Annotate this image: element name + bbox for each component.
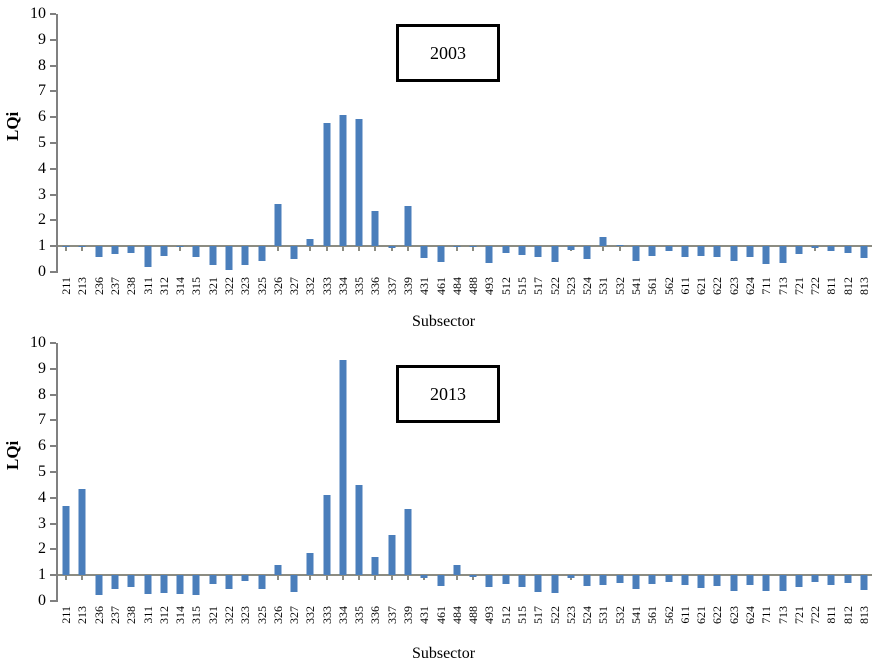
x-label-slot: 314 bbox=[172, 277, 188, 317]
x-label-slot: 332 bbox=[302, 277, 318, 317]
x-tick-label: 339 bbox=[402, 606, 414, 624]
x-tick-mark bbox=[374, 575, 376, 580]
x-tick-mark bbox=[342, 246, 344, 251]
x-tick-label: 323 bbox=[239, 277, 251, 295]
bar-slot bbox=[351, 343, 367, 601]
y-tick-label: 6 bbox=[38, 438, 46, 454]
bar bbox=[63, 246, 70, 247]
x-label-slot: 541 bbox=[628, 277, 644, 317]
bar bbox=[437, 575, 444, 586]
bar-slot bbox=[514, 343, 530, 601]
x-tick-label: 315 bbox=[190, 277, 202, 295]
x-tick-label: 531 bbox=[597, 606, 609, 624]
bar bbox=[535, 246, 542, 257]
x-label-slot: 713 bbox=[774, 606, 790, 646]
x-label-slot: 461 bbox=[432, 606, 448, 646]
x-tick-label: 623 bbox=[728, 606, 740, 624]
x-tick-mark bbox=[65, 246, 67, 251]
x-label-slot: 512 bbox=[498, 277, 514, 317]
bar-slot bbox=[58, 343, 74, 601]
x-label-slot: 326 bbox=[270, 277, 286, 317]
x-tick-mark bbox=[81, 575, 83, 580]
bar-slot bbox=[726, 343, 742, 601]
bar-slot bbox=[807, 14, 823, 272]
x-label-slot: 322 bbox=[221, 606, 237, 646]
bar bbox=[828, 575, 835, 584]
x-axis-tick-labels: 2112132362372383113123143153213223233253… bbox=[58, 277, 872, 317]
x-label-slot: 312 bbox=[156, 277, 172, 317]
x-label-slot: 321 bbox=[205, 606, 221, 646]
y-tick-mark bbox=[50, 142, 56, 144]
x-label-slot: 711 bbox=[758, 277, 774, 317]
x-tick-label: 321 bbox=[207, 277, 219, 295]
x-label-slot: 213 bbox=[74, 277, 90, 317]
bar bbox=[600, 237, 607, 246]
x-tick-label: 624 bbox=[744, 606, 756, 624]
x-tick-label: 532 bbox=[614, 606, 626, 624]
y-tick-mark bbox=[50, 394, 56, 396]
bar-slot bbox=[693, 343, 709, 601]
x-label-slot: 311 bbox=[139, 606, 155, 646]
bar bbox=[177, 246, 184, 247]
bar-slot bbox=[644, 14, 660, 272]
bar bbox=[128, 575, 135, 587]
bar bbox=[844, 246, 851, 253]
x-tick-label: 611 bbox=[679, 606, 691, 624]
y-tick-label: 2 bbox=[38, 212, 46, 228]
x-label-slot: 236 bbox=[91, 606, 107, 646]
y-tick-mark bbox=[50, 271, 56, 273]
bar bbox=[307, 553, 314, 576]
bar bbox=[323, 495, 330, 575]
x-tick-label: 611 bbox=[679, 277, 691, 295]
x-tick-label: 335 bbox=[353, 277, 365, 295]
x-label-slot: 541 bbox=[628, 606, 644, 646]
bar bbox=[95, 246, 102, 257]
x-tick-label: 711 bbox=[760, 606, 772, 624]
y-tick-mark bbox=[50, 13, 56, 15]
x-tick-mark bbox=[456, 246, 458, 251]
y-tick-label: 6 bbox=[38, 109, 46, 125]
bar-slot bbox=[139, 14, 155, 272]
bar bbox=[763, 246, 770, 264]
x-label-slot: 211 bbox=[58, 277, 74, 317]
x-label-slot: 532 bbox=[612, 606, 628, 646]
x-tick-label: 813 bbox=[858, 277, 870, 295]
bar bbox=[698, 575, 705, 588]
chart-panel-2013: LQi 012345678910 21121323623723831131231… bbox=[0, 329, 887, 657]
bar bbox=[160, 575, 167, 593]
bar-slot bbox=[367, 14, 383, 272]
bar-slot bbox=[677, 343, 693, 601]
x-tick-label: 722 bbox=[809, 277, 821, 295]
x-label-slot: 339 bbox=[400, 277, 416, 317]
y-tick-label: 7 bbox=[38, 83, 46, 99]
x-tick-label: 522 bbox=[549, 277, 561, 295]
x-label-slot: 623 bbox=[726, 606, 742, 646]
x-label-slot: 326 bbox=[270, 606, 286, 646]
x-tick-label: 532 bbox=[614, 277, 626, 295]
x-label-slot: 488 bbox=[465, 277, 481, 317]
bar bbox=[453, 565, 460, 575]
bar-slot bbox=[579, 343, 595, 601]
x-label-slot: 721 bbox=[791, 606, 807, 646]
x-label-slot: 531 bbox=[595, 606, 611, 646]
x-tick-label: 493 bbox=[483, 277, 495, 295]
x-label-slot: 431 bbox=[416, 606, 432, 646]
x-tick-label: 562 bbox=[663, 606, 675, 624]
bar bbox=[470, 246, 477, 247]
bar bbox=[502, 575, 509, 584]
bar-slot bbox=[856, 343, 872, 601]
bar-slot bbox=[302, 343, 318, 601]
y-tick-label: 0 bbox=[38, 593, 46, 609]
x-label-slot: 327 bbox=[286, 606, 302, 646]
x-axis-tick-labels: 2112132362372383113123143153213223233253… bbox=[58, 606, 872, 646]
x-label-slot: 493 bbox=[481, 606, 497, 646]
y-tick-mark bbox=[50, 342, 56, 344]
x-tick-label: 211 bbox=[60, 606, 72, 624]
x-label-slot: 488 bbox=[465, 606, 481, 646]
x-label-slot: 431 bbox=[416, 277, 432, 317]
bar-slot bbox=[612, 343, 628, 601]
bar bbox=[225, 246, 232, 270]
bar bbox=[763, 575, 770, 590]
bar-slot bbox=[58, 14, 74, 272]
x-tick-label: 517 bbox=[532, 277, 544, 295]
bar bbox=[111, 246, 118, 254]
x-label-slot: 484 bbox=[449, 277, 465, 317]
y-axis-tick-labels: 012345678910 bbox=[22, 343, 48, 601]
x-label-slot: 211 bbox=[58, 606, 74, 646]
bar bbox=[812, 575, 819, 582]
bar-slot bbox=[791, 343, 807, 601]
x-label-slot: 611 bbox=[677, 606, 693, 646]
x-label-slot: 812 bbox=[840, 606, 856, 646]
bar-slot bbox=[286, 343, 302, 601]
x-tick-label: 515 bbox=[516, 606, 528, 624]
x-label-slot: 621 bbox=[693, 277, 709, 317]
x-tick-label: 812 bbox=[842, 277, 854, 295]
x-label-slot: 461 bbox=[432, 277, 448, 317]
bar bbox=[258, 575, 265, 589]
x-label-slot: 811 bbox=[823, 606, 839, 646]
bar bbox=[372, 211, 379, 246]
bar-slot bbox=[172, 343, 188, 601]
y-tick-mark bbox=[50, 497, 56, 499]
bar-slot bbox=[807, 343, 823, 601]
x-tick-label: 517 bbox=[532, 606, 544, 624]
x-tick-label: 621 bbox=[695, 606, 707, 624]
x-tick-mark bbox=[65, 575, 67, 580]
bar-slot bbox=[644, 343, 660, 601]
x-label-slot: 321 bbox=[205, 277, 221, 317]
x-tick-label: 624 bbox=[744, 277, 756, 295]
legend-year-box: 2003 bbox=[396, 24, 500, 82]
bar-slot bbox=[628, 14, 644, 272]
bar-slot bbox=[709, 343, 725, 601]
x-tick-label: 523 bbox=[565, 277, 577, 295]
bar-slot bbox=[563, 14, 579, 272]
bar bbox=[111, 575, 118, 588]
y-tick-label: 2 bbox=[38, 541, 46, 557]
bar bbox=[860, 246, 867, 258]
x-tick-label: 327 bbox=[288, 277, 300, 295]
bar bbox=[453, 246, 460, 247]
x-label-slot: 523 bbox=[563, 277, 579, 317]
bar bbox=[698, 246, 705, 256]
bar bbox=[63, 506, 70, 576]
x-tick-mark bbox=[358, 575, 360, 580]
x-tick-label: 312 bbox=[158, 606, 170, 624]
x-tick-mark bbox=[277, 246, 279, 251]
bar-slot bbox=[123, 343, 139, 601]
bar-slot bbox=[677, 14, 693, 272]
x-tick-label: 622 bbox=[711, 606, 723, 624]
x-label-slot: 311 bbox=[139, 277, 155, 317]
x-label-slot: 335 bbox=[351, 606, 367, 646]
bar bbox=[714, 246, 721, 257]
x-label-slot: 335 bbox=[351, 277, 367, 317]
x-tick-label: 515 bbox=[516, 277, 528, 295]
x-label-slot: 722 bbox=[807, 277, 823, 317]
bar-slot bbox=[156, 343, 172, 601]
bar-slot bbox=[91, 14, 107, 272]
legend-year-box: 2013 bbox=[396, 365, 500, 423]
bar-slot bbox=[107, 343, 123, 601]
bar-slot bbox=[660, 343, 676, 601]
bar bbox=[714, 575, 721, 586]
bar bbox=[128, 246, 135, 253]
x-label-slot: 315 bbox=[188, 277, 204, 317]
bar bbox=[193, 246, 200, 257]
bar-slot bbox=[237, 343, 253, 601]
x-tick-label: 721 bbox=[793, 606, 805, 624]
bar-slot bbox=[514, 14, 530, 272]
x-label-slot: 336 bbox=[367, 277, 383, 317]
bar-slot bbox=[546, 343, 562, 601]
bar bbox=[502, 246, 509, 253]
bar-slot bbox=[530, 343, 546, 601]
bar-slot bbox=[774, 14, 790, 272]
x-label-slot: 522 bbox=[546, 277, 562, 317]
bar-slot bbox=[237, 14, 253, 272]
bar-slot bbox=[546, 14, 562, 272]
bar bbox=[681, 575, 688, 585]
x-label-slot: 336 bbox=[367, 606, 383, 646]
bar-slot bbox=[595, 343, 611, 601]
bar bbox=[242, 246, 249, 265]
bar bbox=[372, 557, 379, 575]
x-tick-label: 541 bbox=[630, 277, 642, 295]
x-tick-label: 336 bbox=[369, 277, 381, 295]
x-label-slot: 713 bbox=[774, 277, 790, 317]
x-tick-mark bbox=[326, 246, 328, 251]
bar bbox=[242, 575, 249, 581]
x-label-slot: 711 bbox=[758, 606, 774, 646]
bar bbox=[860, 575, 867, 590]
x-label-slot: 323 bbox=[237, 606, 253, 646]
x-tick-mark bbox=[407, 575, 409, 580]
x-tick-label: 332 bbox=[304, 277, 316, 295]
y-tick-mark bbox=[50, 368, 56, 370]
x-tick-label: 213 bbox=[76, 277, 88, 295]
x-tick-label: 323 bbox=[239, 606, 251, 624]
x-tick-label: 321 bbox=[207, 606, 219, 624]
x-label-slot: 484 bbox=[449, 606, 465, 646]
x-label-slot: 238 bbox=[123, 277, 139, 317]
bar bbox=[144, 246, 151, 267]
bar bbox=[95, 575, 102, 595]
x-tick-mark bbox=[277, 575, 279, 580]
x-label-slot: 337 bbox=[384, 277, 400, 317]
chart-panel-2003: LQi 012345678910 21121323623723831131231… bbox=[0, 0, 887, 328]
bar-slot bbox=[205, 14, 221, 272]
y-tick-mark bbox=[50, 471, 56, 473]
bar bbox=[632, 575, 639, 589]
x-tick-label: 493 bbox=[483, 606, 495, 624]
y-tick-mark bbox=[50, 65, 56, 67]
bar bbox=[388, 246, 395, 248]
bar bbox=[795, 246, 802, 253]
bar bbox=[437, 246, 444, 262]
bar-slot bbox=[367, 343, 383, 601]
bar-slot bbox=[91, 343, 107, 601]
x-tick-mark bbox=[374, 246, 376, 251]
x-tick-label: 713 bbox=[777, 606, 789, 624]
y-tick-label: 5 bbox=[38, 464, 46, 480]
y-tick-mark bbox=[50, 39, 56, 41]
x-label-slot: 813 bbox=[856, 606, 872, 646]
x-tick-label: 561 bbox=[646, 277, 658, 295]
bar-slot bbox=[107, 14, 123, 272]
y-tick-label: 3 bbox=[38, 516, 46, 532]
x-tick-label: 621 bbox=[695, 277, 707, 295]
x-tick-label: 524 bbox=[581, 277, 593, 295]
bar bbox=[730, 246, 737, 260]
bar bbox=[519, 575, 526, 587]
x-label-slot: 337 bbox=[384, 606, 400, 646]
x-tick-label: 562 bbox=[663, 277, 675, 295]
bar-slot bbox=[156, 14, 172, 272]
bar bbox=[388, 535, 395, 575]
x-label-slot: 213 bbox=[74, 606, 90, 646]
bar bbox=[665, 575, 672, 582]
bar bbox=[323, 123, 330, 246]
bar-slot bbox=[856, 14, 872, 272]
y-tick-mark bbox=[50, 419, 56, 421]
x-tick-label: 713 bbox=[777, 277, 789, 295]
bar-slot bbox=[791, 14, 807, 272]
x-tick-label: 337 bbox=[386, 277, 398, 295]
bar-slot bbox=[628, 343, 644, 601]
bar bbox=[486, 575, 493, 587]
bar bbox=[356, 485, 363, 575]
bar-slot bbox=[579, 14, 595, 272]
bar bbox=[79, 246, 86, 247]
bar bbox=[746, 246, 753, 256]
x-label-slot: 611 bbox=[677, 277, 693, 317]
x-tick-label: 237 bbox=[109, 277, 121, 295]
bar bbox=[567, 575, 574, 578]
x-tick-label: 237 bbox=[109, 606, 121, 624]
bar bbox=[79, 489, 86, 575]
bar bbox=[339, 115, 346, 246]
x-label-slot: 621 bbox=[693, 606, 709, 646]
x-label-slot: 327 bbox=[286, 277, 302, 317]
x-label-slot: 624 bbox=[742, 277, 758, 317]
x-tick-label: 336 bbox=[369, 606, 381, 624]
bar bbox=[421, 246, 428, 258]
x-label-slot: 334 bbox=[335, 277, 351, 317]
bar-slot bbox=[319, 14, 335, 272]
bar-slot bbox=[139, 343, 155, 601]
bar bbox=[307, 239, 314, 246]
y-tick-mark bbox=[50, 574, 56, 576]
x-label-slot: 325 bbox=[253, 277, 269, 317]
x-tick-mark bbox=[81, 246, 83, 251]
bar bbox=[616, 245, 623, 246]
y-tick-mark bbox=[50, 90, 56, 92]
x-tick-label: 722 bbox=[809, 606, 821, 624]
x-label-slot: 515 bbox=[514, 606, 530, 646]
bar bbox=[681, 246, 688, 256]
bar bbox=[779, 575, 786, 591]
x-tick-label: 811 bbox=[825, 277, 837, 295]
x-label-slot: 813 bbox=[856, 277, 872, 317]
x-label-slot: 323 bbox=[237, 277, 253, 317]
bar-slot bbox=[774, 343, 790, 601]
bar bbox=[649, 246, 656, 256]
bar bbox=[795, 575, 802, 587]
x-tick-mark bbox=[407, 246, 409, 251]
y-tick-label: 8 bbox=[38, 387, 46, 403]
x-label-slot: 523 bbox=[563, 606, 579, 646]
x-tick-mark bbox=[456, 575, 458, 580]
bar-slot bbox=[221, 343, 237, 601]
bar-slot bbox=[563, 343, 579, 601]
bar bbox=[600, 575, 607, 585]
bar-slot bbox=[253, 343, 269, 601]
y-tick-label: 4 bbox=[38, 161, 46, 177]
bar bbox=[421, 575, 428, 578]
bar bbox=[291, 246, 298, 259]
y-tick-label: 5 bbox=[38, 135, 46, 151]
x-label-slot: 493 bbox=[481, 277, 497, 317]
x-label-slot: 322 bbox=[221, 277, 237, 317]
bar-slot bbox=[335, 343, 351, 601]
bar bbox=[730, 575, 737, 591]
bar bbox=[405, 206, 412, 247]
x-tick-mark bbox=[326, 575, 328, 580]
x-tick-label: 311 bbox=[142, 277, 154, 295]
bar-slot bbox=[840, 343, 856, 601]
x-label-slot: 561 bbox=[644, 606, 660, 646]
bar bbox=[209, 575, 216, 584]
y-tick-label: 0 bbox=[38, 264, 46, 280]
x-label-slot: 315 bbox=[188, 606, 204, 646]
x-label-slot: 237 bbox=[107, 277, 123, 317]
y-tick-mark bbox=[50, 445, 56, 447]
x-tick-label: 236 bbox=[93, 277, 105, 295]
x-tick-label: 813 bbox=[858, 606, 870, 624]
y-tick-label: 10 bbox=[30, 335, 46, 351]
bar bbox=[551, 246, 558, 262]
x-tick-mark bbox=[619, 246, 621, 251]
x-tick-label: 523 bbox=[565, 606, 577, 624]
x-tick-label: 811 bbox=[825, 606, 837, 624]
x-tick-label: 488 bbox=[467, 606, 479, 624]
